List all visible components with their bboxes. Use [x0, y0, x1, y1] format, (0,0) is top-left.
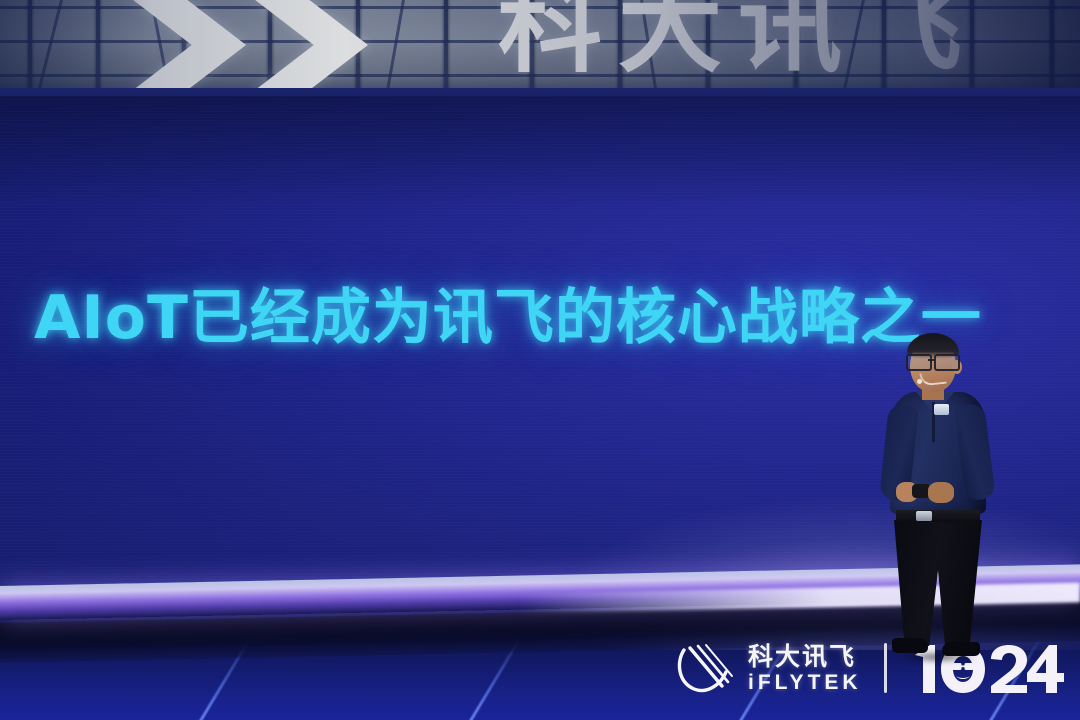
presenter-shoe-left — [892, 638, 928, 653]
chevron-group — [128, 0, 388, 94]
presenter-trousers — [894, 520, 982, 646]
top-truss-banner: 科大讯飞 — [0, 0, 1080, 96]
truss-brace — [33, 0, 63, 96]
event-branding-lockup: 科大讯飞 iFLYTEK — [676, 637, 1069, 699]
presenter-hand-right — [928, 482, 954, 503]
truss-post — [1050, 0, 1054, 96]
presenter-shoe-right — [942, 642, 980, 656]
iflytek-swoosh-logo — [676, 642, 734, 694]
brand-name-en: iFLYTEK — [748, 672, 862, 693]
stage-photo-scene: 科大讯飞 AIoT已经成为讯飞的核心战略之一 科大讯飞 iFLYTEK — [0, 0, 1080, 720]
sunglasses-face-icon — [952, 663, 973, 679]
banner-wordmark-cn: 科大讯飞 — [498, 0, 978, 78]
truss-post — [96, 0, 100, 96]
brand-name-block: 科大讯飞 iFLYTEK — [748, 644, 862, 693]
brand-name-cn: 科大讯飞 — [748, 644, 862, 669]
presenter-belt-buckle — [916, 511, 932, 521]
presenter-chest-badge — [934, 404, 949, 415]
truss-post — [28, 0, 32, 96]
headset-mic-tip — [917, 379, 922, 384]
presenter-figure — [876, 332, 1008, 662]
eyeglasses-icon — [904, 354, 960, 368]
truss-post — [444, 0, 448, 96]
presenter-belt — [896, 510, 980, 522]
